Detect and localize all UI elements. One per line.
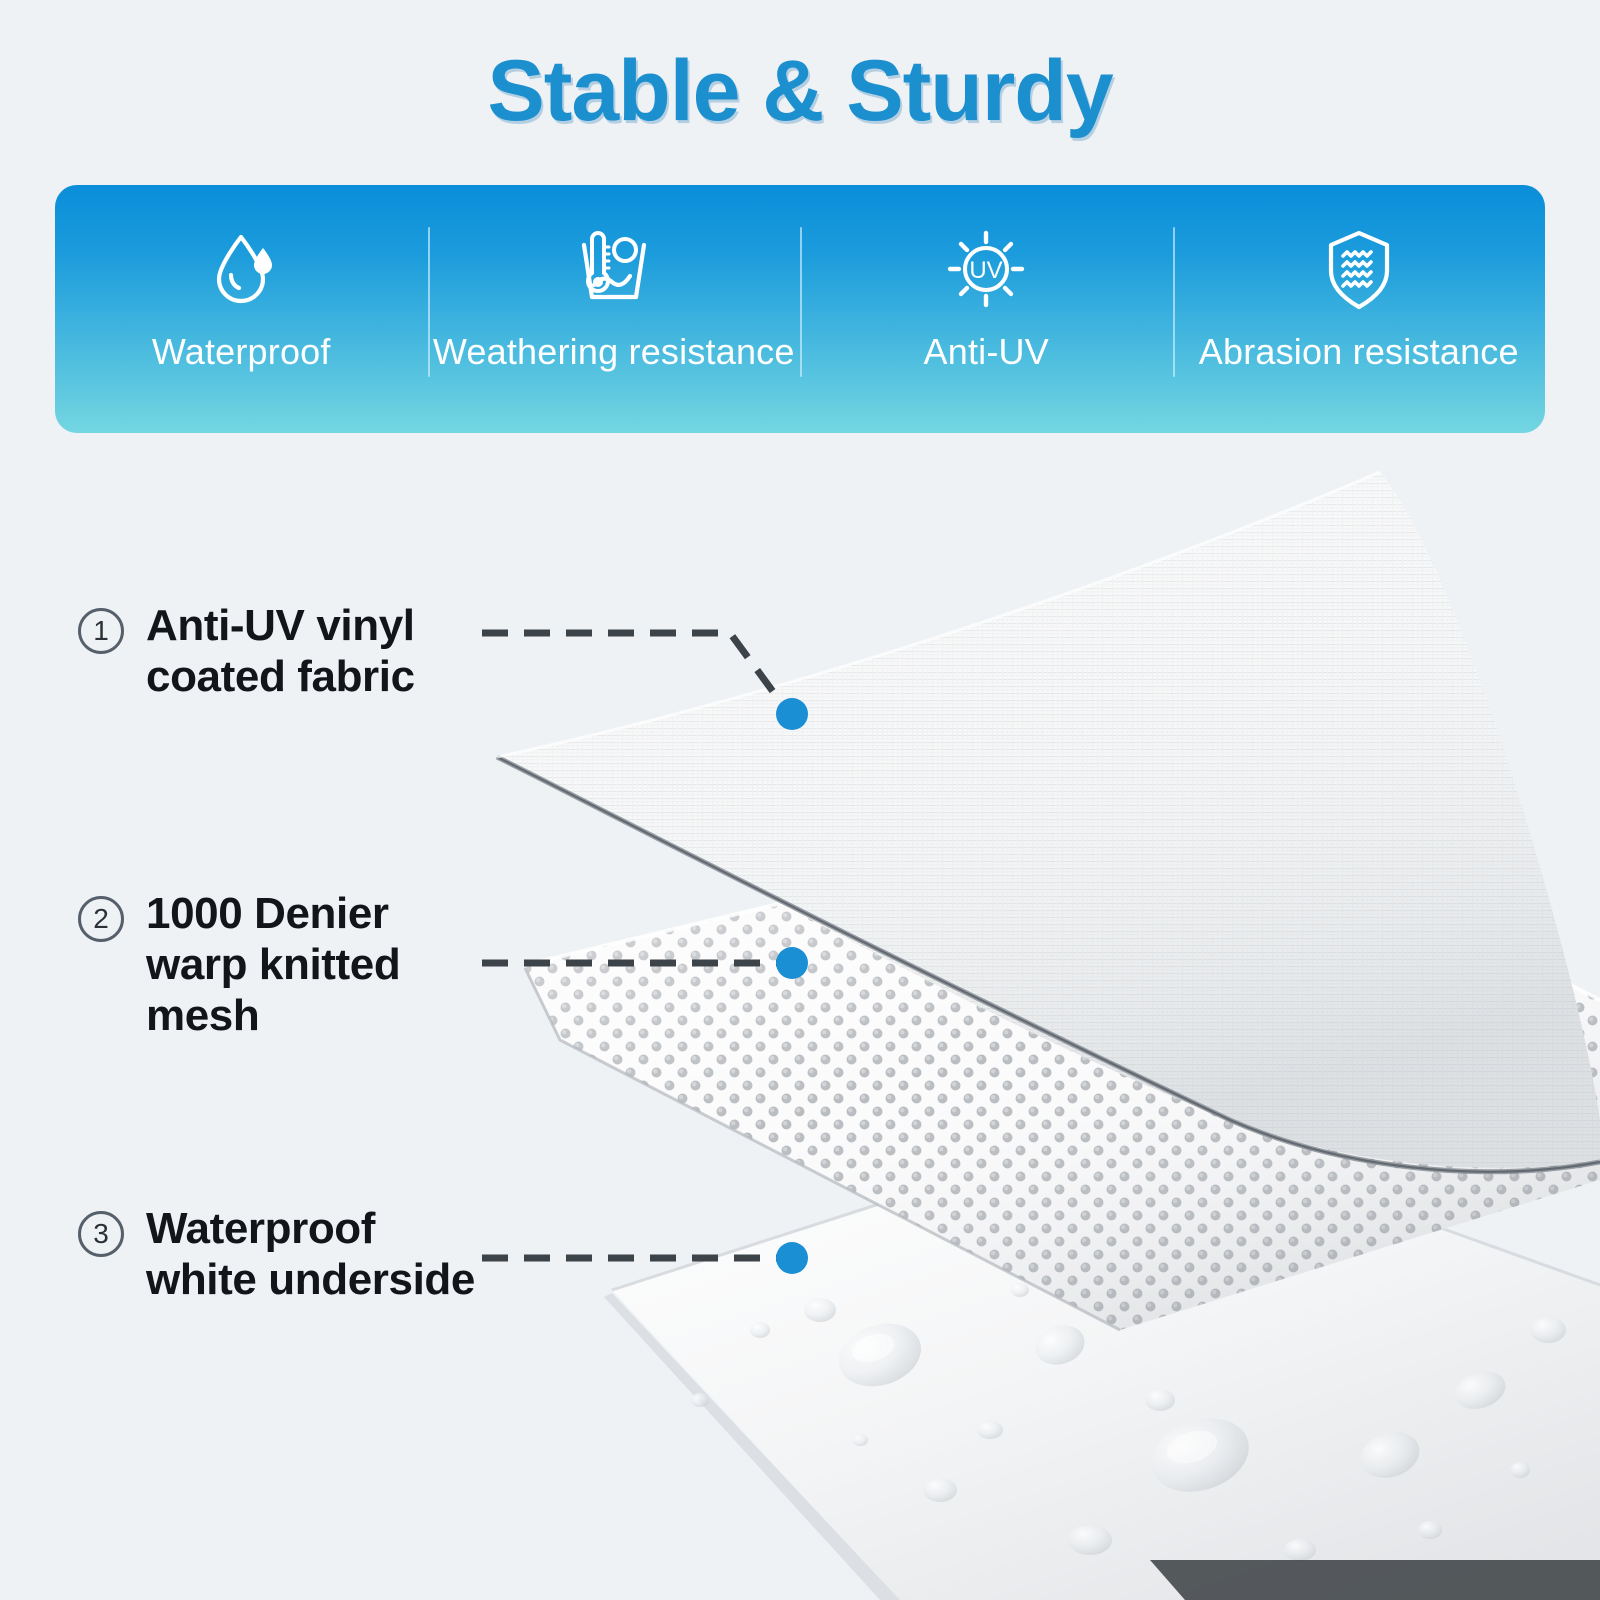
callout-3: 3 Waterproof white underside bbox=[78, 1203, 475, 1305]
leader-dot-3 bbox=[776, 1242, 808, 1274]
callout-1: 1 Anti-UV vinyl coated fabric bbox=[78, 600, 415, 702]
callout-text: Waterproof white underside bbox=[146, 1203, 475, 1305]
callout-text: 1000 Denier warp knitted mesh bbox=[146, 888, 400, 1041]
callout-number: 3 bbox=[78, 1211, 124, 1257]
leader-dot-1 bbox=[776, 698, 808, 730]
callout-number: 1 bbox=[78, 608, 124, 654]
callout-text: Anti-UV vinyl coated fabric bbox=[146, 600, 415, 702]
fabric-layer-illustration bbox=[0, 0, 1600, 1600]
callout-2: 2 1000 Denier warp knitted mesh bbox=[78, 888, 400, 1041]
callout-number: 2 bbox=[78, 896, 124, 942]
leader-dot-2 bbox=[776, 947, 808, 979]
